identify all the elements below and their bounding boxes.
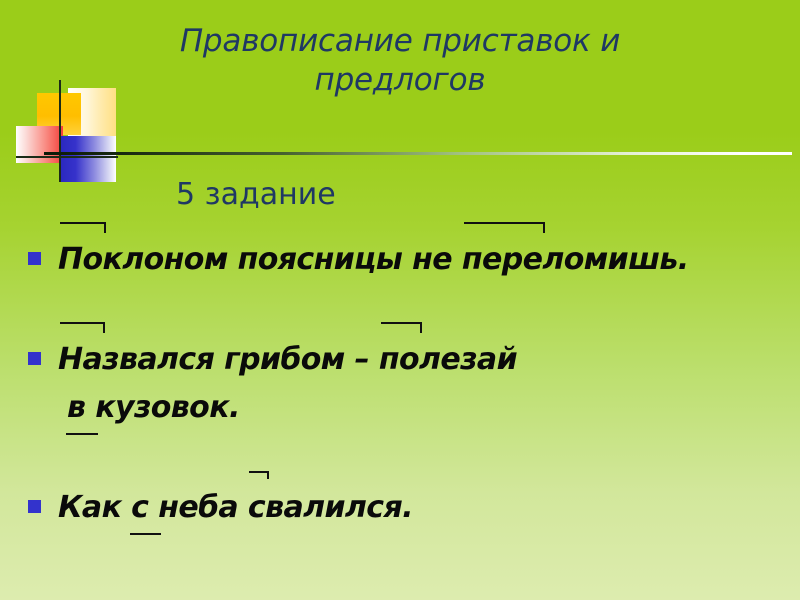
proverb-middle-text: клоном поясницы не (103, 242, 462, 277)
prefix-text: По (58, 242, 103, 277)
decorative-squares-logo (16, 80, 118, 182)
proverb-middle-text: звался грибом – (102, 342, 379, 377)
proverb-text-2-line-2: в кузовок. (58, 384, 800, 432)
slide-title-line-1: Правописание приставок и (180, 23, 620, 59)
square-bullet-icon (28, 352, 41, 365)
prefix-bracket-po: По (58, 236, 103, 284)
logo-blue-square (60, 136, 116, 182)
list-item: Как с неба свалился. (0, 484, 800, 532)
logo-vertical-line (59, 80, 61, 182)
list-item: Поклоном поясницы не переломишь. (0, 236, 800, 284)
square-bullet-icon (28, 252, 41, 265)
proverb-tail-text: кузовок. (85, 390, 239, 425)
proverb-tail-text: ломишь. (542, 242, 688, 277)
prefix-bracket-s: с (248, 484, 265, 532)
preposition-underline-v: в (67, 384, 85, 432)
list-item: Назвался грибом – полезай в кузовок. (0, 336, 800, 432)
prefix-text: пере (462, 242, 543, 277)
slide-title: Правописание приставок и предлогов (140, 22, 660, 100)
task-subtitle: 5 задание (176, 177, 336, 212)
prefix-text: На (58, 342, 102, 377)
proverb-tail-text: валился. (265, 490, 413, 525)
preposition-underline-s: с (131, 484, 148, 532)
slide-title-line-2: предлогов (315, 62, 486, 98)
prefix-bracket-po: по (379, 336, 419, 384)
proverb-tail-text: лезай (419, 342, 517, 377)
square-bullet-icon (28, 500, 41, 513)
prefix-text: по (379, 342, 419, 377)
proverb-middle-text: неба (148, 490, 248, 525)
preposition-text: с (131, 490, 148, 525)
logo-horizontal-line (16, 156, 118, 158)
proverb-text-2: Назвался грибом – полезай в кузовок. (58, 336, 800, 432)
proverb-head-text: Как (58, 490, 131, 525)
prefix-bracket-pere: пере (462, 236, 543, 284)
proverb-text-1: Поклоном поясницы не переломишь. (58, 236, 800, 284)
prefix-bracket-na: На (58, 336, 102, 384)
title-divider-line (44, 152, 792, 155)
proverb-list: Поклоном поясницы не переломишь. Назвалс… (0, 236, 800, 584)
prefix-text: с (248, 490, 265, 525)
preposition-text: в (67, 390, 85, 425)
proverb-text-3: Как с неба свалился. (58, 484, 800, 532)
presentation-slide: Правописание приставок и предлогов 5 зад… (0, 0, 800, 600)
